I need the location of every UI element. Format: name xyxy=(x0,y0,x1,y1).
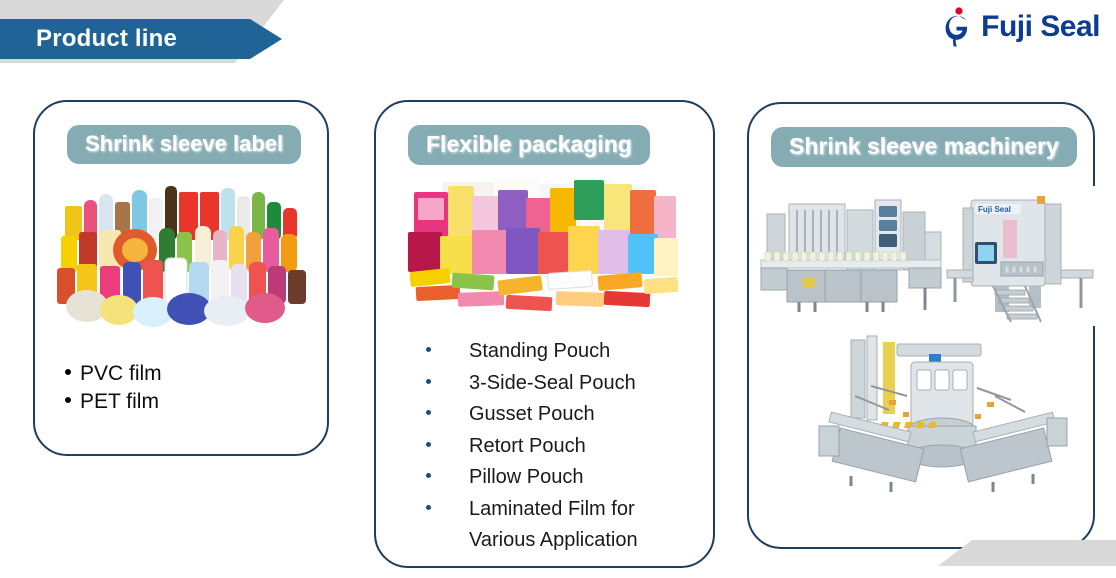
list-item: Pillow Pouch xyxy=(426,462,638,494)
list-item-label: Standing Pouch xyxy=(469,336,610,368)
card-title-badge-flexible-packaging: Flexible packaging xyxy=(408,125,650,165)
card-shrink-sleeve-label[interactable]: Shrink sleeve label xyxy=(33,100,329,456)
list-item-label: Laminated Film for xyxy=(469,494,635,526)
bullet-dot-icon xyxy=(426,410,431,415)
product-collage-image-pouches xyxy=(406,174,682,319)
card-shrink-sleeve-machinery[interactable]: Shrink sleeve machinery xyxy=(747,102,1095,549)
header-blue-banner: Product line xyxy=(0,19,282,59)
list-item: PVC film xyxy=(65,360,162,388)
bullet-dot-icon xyxy=(65,397,71,403)
fuji-seal-mark-icon xyxy=(941,7,975,47)
machine-brand-label: Fuji Seal xyxy=(978,205,1011,214)
list-item: Gusset Pouch xyxy=(426,399,638,431)
slide-root: Product line Fuji Seal Shrink sleeve lab… xyxy=(0,0,1116,578)
bullet-list-flexible-packaging: Standing Pouch 3-Side-Seal Pouch Gusset … xyxy=(426,336,638,557)
bullet-dot-icon xyxy=(426,379,431,384)
list-item-label: 3-Side-Seal Pouch xyxy=(469,368,636,400)
list-item: Retort Pouch xyxy=(426,431,638,463)
bullet-dot-icon xyxy=(426,473,431,478)
list-item: 3-Side-Seal Pouch xyxy=(426,368,638,400)
list-item-label: Gusset Pouch xyxy=(469,399,595,431)
bullet-dot-icon xyxy=(426,505,431,510)
bullet-dot-icon xyxy=(426,347,431,352)
machine-image-fuji-seal-sleeve-applicator: Fuji Seal xyxy=(945,186,1095,326)
list-item: Laminated Film for xyxy=(426,494,638,526)
logo-wordmark: Fuji Seal xyxy=(981,12,1100,42)
list-item: Standing Pouch xyxy=(426,336,638,368)
card-flexible-packaging[interactable]: Flexible packaging xyxy=(374,100,715,568)
card-title-badge-shrink-sleeve-label: Shrink sleeve label xyxy=(67,125,301,164)
list-item-label: PVC film xyxy=(80,360,162,388)
bullet-list-shrink-sleeve-label: PVC film PET film xyxy=(65,360,162,416)
fuji-seal-logo: Fuji Seal xyxy=(941,6,1100,48)
bullet-dot-icon xyxy=(426,442,431,447)
machine-image-rotary-labelling-machine xyxy=(811,326,1073,498)
list-item-label: Retort Pouch xyxy=(469,431,586,463)
list-item-label: Pillow Pouch xyxy=(469,462,584,494)
list-item: PET film xyxy=(65,388,162,416)
list-item-label: PET film xyxy=(80,388,159,416)
list-item-continuation: Various Application xyxy=(426,525,638,557)
bullet-dot-icon xyxy=(65,369,71,375)
machine-image-inline-filling-machine xyxy=(759,186,944,318)
product-collage-image-bottles xyxy=(57,182,309,332)
page-title: Product line xyxy=(0,25,177,53)
card-title-badge-shrink-sleeve-machinery: Shrink sleeve machinery xyxy=(771,127,1077,167)
